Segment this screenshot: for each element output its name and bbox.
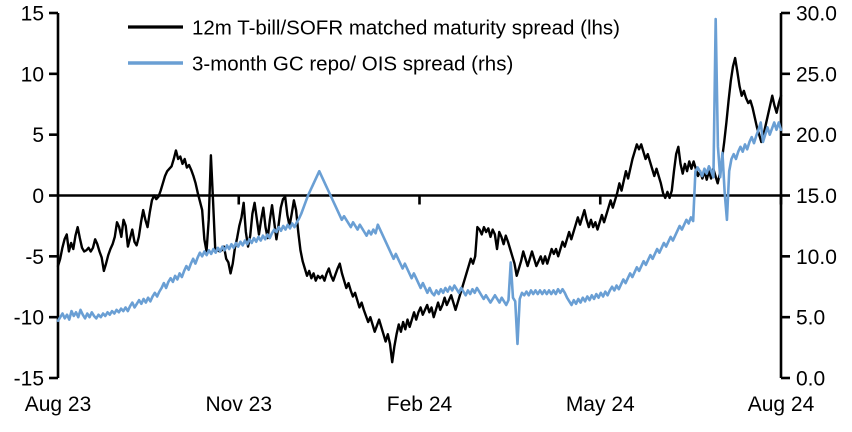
right-axis-tick-label: 20.0: [796, 124, 837, 147]
x-axis-tick-label: Aug 23: [25, 393, 92, 416]
legend-label-1: 12m T-bill/SOFR matched maturity spread …: [192, 17, 620, 40]
x-axis-tick-label: May 24: [566, 393, 635, 416]
right-axis-tick-label: 10.0: [796, 246, 837, 269]
right-axis-tick-label: 0.0: [796, 368, 825, 391]
left-axis-tick-label: 5: [32, 124, 44, 147]
chart-container: 151050-5-10-1530.025.020.015.010.05.00.0…: [0, 0, 852, 432]
left-axis-tick-label: -5: [25, 246, 44, 269]
legend-label-2: 3-month GC repo/ OIS spread (rhs): [192, 53, 513, 76]
line-chart: 151050-5-10-1530.025.020.015.010.05.00.0…: [0, 0, 852, 432]
right-axis-tick-label: 25.0: [796, 63, 837, 86]
right-axis-tick-label: 15.0: [796, 185, 837, 208]
left-axis-tick-label: -15: [14, 368, 44, 391]
x-axis-tick-label: Feb 24: [387, 393, 453, 416]
left-axis-tick-label: 15: [21, 3, 44, 26]
x-axis-tick-label: Aug 24: [748, 393, 815, 416]
left-axis-tick-label: 10: [21, 63, 44, 86]
right-axis-tick-label: 5.0: [796, 307, 825, 330]
right-axis-tick-label: 30.0: [796, 3, 837, 26]
left-axis-tick-label: -10: [14, 307, 44, 330]
left-axis-tick-label: 0: [32, 185, 44, 208]
x-axis-tick-label: Nov 23: [205, 393, 272, 416]
